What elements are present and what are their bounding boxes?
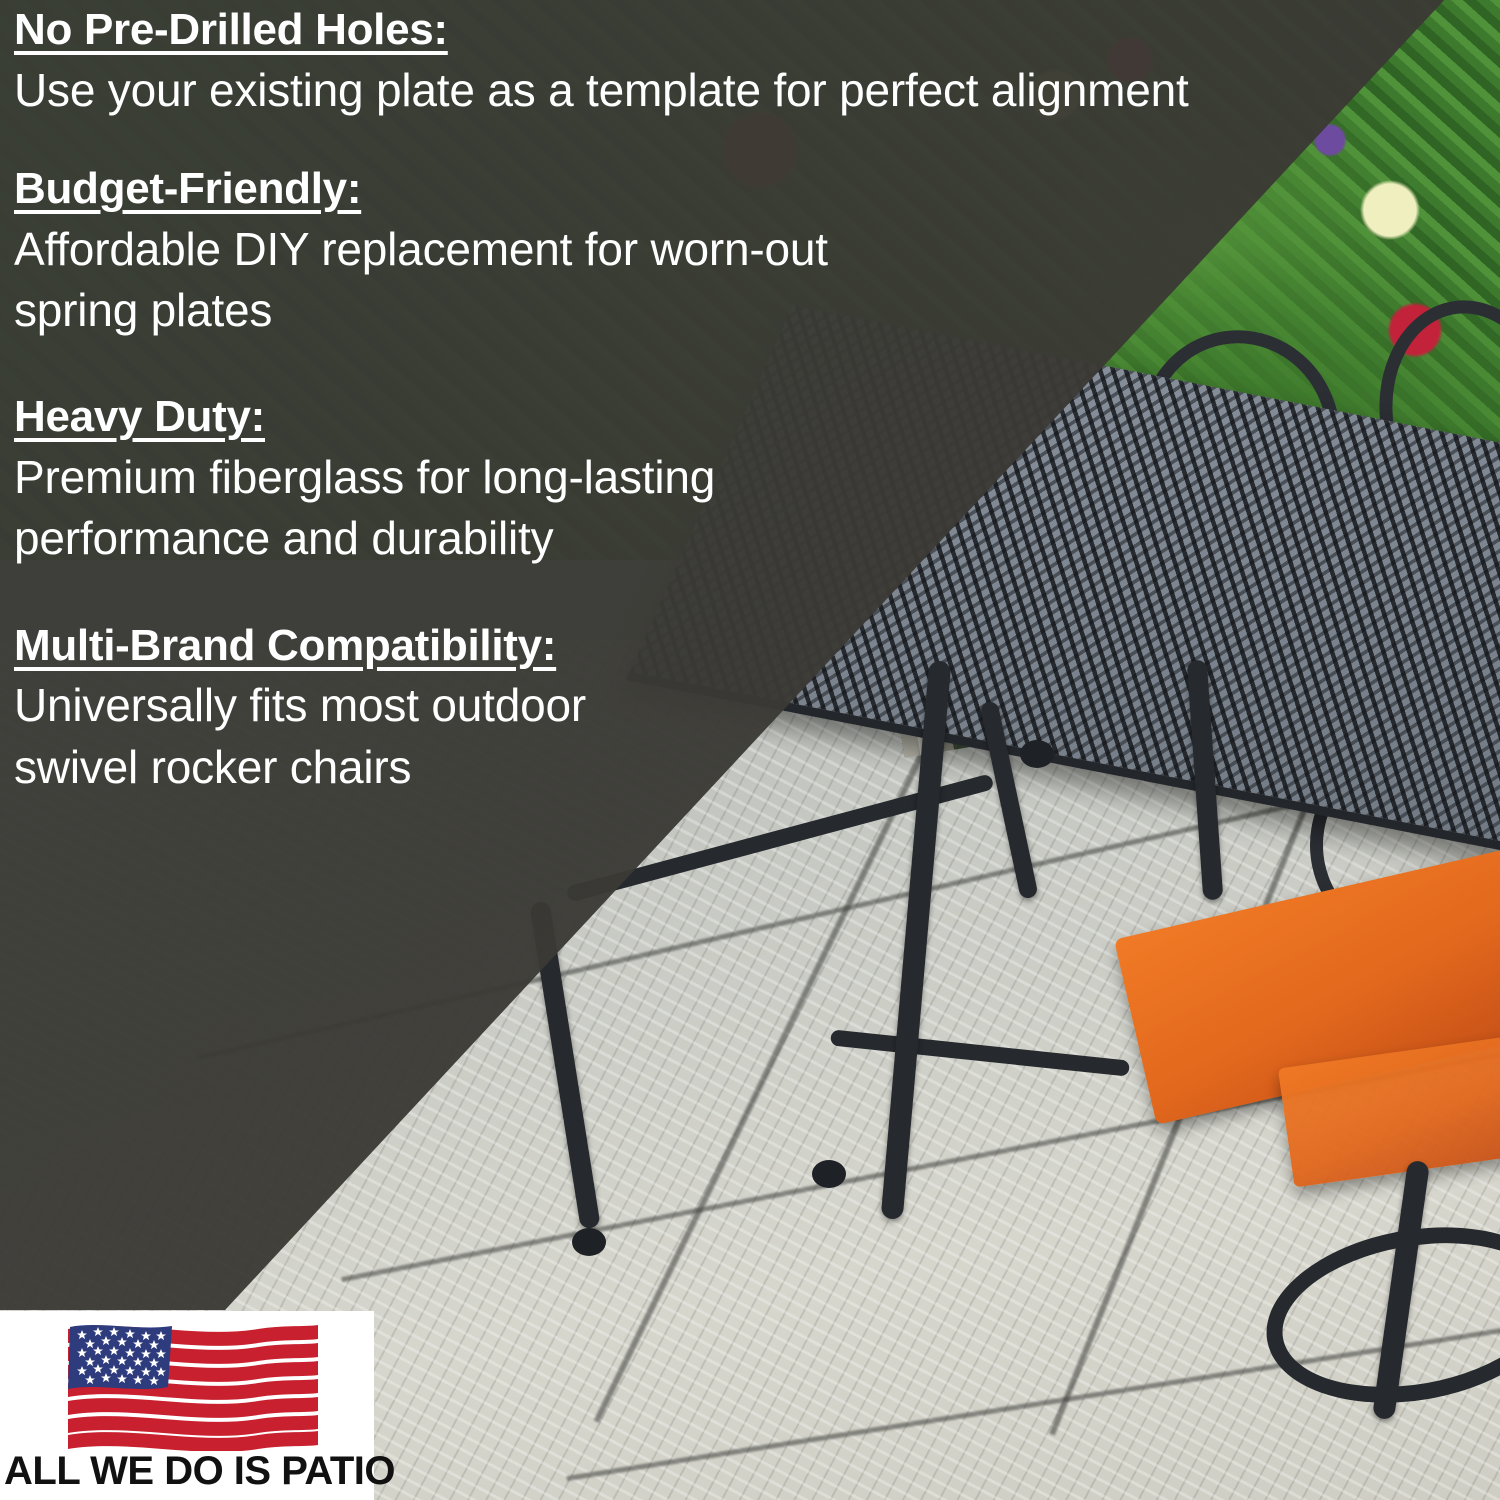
feature-body: Affordable DIY replacement for worn-out … xyxy=(14,219,1414,341)
swivel-chair-base xyxy=(1253,1205,1500,1425)
feature-body-line: Universally fits most outdoor xyxy=(14,675,1414,736)
usa-flag-svg xyxy=(68,1323,318,1451)
feature-body: Premium fiberglass for long-lasting perf… xyxy=(14,447,1414,569)
feature-body-line: swivel rocker chairs xyxy=(14,737,1414,798)
product-feature-graphic: No Pre-Drilled Holes: Use your existing … xyxy=(0,0,1500,1500)
feature-body-line: Affordable DIY replacement for worn-out xyxy=(14,219,1414,280)
feature-body-line: Premium fiberglass for long-lasting xyxy=(14,447,1414,508)
usa-flag-icon xyxy=(68,1323,318,1451)
table-crossbar xyxy=(830,1029,1130,1076)
feature-body-line: spring plates xyxy=(14,280,1414,341)
feature-block-4: Multi-Brand Compatibility: Universally f… xyxy=(14,620,1414,798)
feature-heading: Budget-Friendly: xyxy=(14,163,1414,215)
feature-heading: Multi-Brand Compatibility: xyxy=(14,620,1414,672)
feature-heading: No Pre-Drilled Holes: xyxy=(14,4,1414,56)
brand-tagline: ALL WE DO IS PATIO xyxy=(4,1449,376,1494)
feature-block-3: Heavy Duty: Premium fiberglass for long-… xyxy=(14,391,1414,569)
feature-list: No Pre-Drilled Holes: Use your existing … xyxy=(14,0,1414,798)
leg-foot xyxy=(812,1160,846,1188)
feature-heading: Heavy Duty: xyxy=(14,391,1414,443)
feature-body: Universally fits most outdoor swivel roc… xyxy=(14,675,1414,797)
brand-logo-badge: ALL WE DO IS PATIO xyxy=(0,1311,374,1500)
leg-foot xyxy=(572,1228,606,1256)
feature-body-line: performance and durability xyxy=(14,508,1414,569)
feature-body-line: Use your existing plate as a template fo… xyxy=(14,60,1414,121)
feature-block-2: Budget-Friendly: Affordable DIY replacem… xyxy=(14,163,1414,341)
feature-block-1: No Pre-Drilled Holes: Use your existing … xyxy=(14,4,1414,121)
feature-body: Use your existing plate as a template fo… xyxy=(14,60,1414,121)
